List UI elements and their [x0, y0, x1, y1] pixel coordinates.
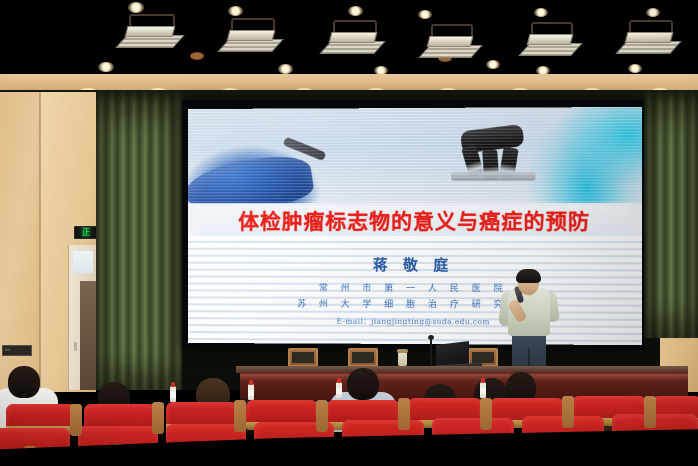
downlight: [278, 64, 293, 74]
stage-light: [126, 20, 174, 52]
seat-armrest: [398, 398, 410, 430]
ceiling: [0, 0, 698, 78]
water-bottle: [170, 386, 176, 402]
downlight: [628, 64, 642, 73]
water-bottle: [480, 382, 486, 398]
stage-curtain-right: [644, 90, 698, 338]
led-screen: 体检肿瘤标志物的意义与癌症的预防 蒋 敬 庭 常 州 市 第 一 人 民 医 院…: [182, 100, 644, 350]
downlight: [486, 60, 500, 69]
seat-armrest: [316, 400, 328, 432]
running-man-icon: 正: [81, 228, 90, 237]
downlight: [228, 6, 243, 16]
slide-speaker-name: 蒋 敬 庭: [188, 254, 642, 276]
slide-affiliation-2: 苏 州 大 学 细 胞 治 疗 研 究 院: [188, 296, 642, 310]
presentation-slide: 体检肿瘤标志物的意义与癌症的预防 蒋 敬 庭 常 州 市 第 一 人 民 医 院…: [188, 107, 642, 345]
auditorium-photo: 正 AV 体检肿瘤标志物的意义与癌症的预防: [0, 0, 698, 466]
stage-chair: [348, 348, 378, 367]
stage-light: [228, 24, 274, 56]
downlight: [98, 62, 114, 72]
water-bottle: [336, 382, 342, 398]
slide-body: 蒋 敬 庭 常 州 市 第 一 人 民 医 院 苏 州 大 学 细 胞 治 疗 …: [188, 236, 642, 345]
downlight: [348, 6, 363, 16]
slide-email: E-mail：jiangjingting@suda.edu.com: [188, 315, 642, 328]
water-bottle: [248, 384, 254, 400]
door-handle: [74, 342, 77, 351]
stage-curtain-left: [96, 90, 182, 390]
stage-light: [330, 26, 376, 58]
slide-title-text: 体检肿瘤标志物的意义与癌症的预防: [238, 206, 590, 236]
downlight: [534, 8, 548, 17]
seat-armrest: [234, 400, 246, 432]
downlight: [128, 2, 144, 13]
stage-light: [528, 28, 572, 60]
wall-panel-plate: AV: [2, 345, 32, 356]
stage-light: [428, 30, 472, 62]
wall-plate-label: AV: [3, 346, 31, 352]
table-microphone: [430, 338, 432, 366]
seat-armrest: [152, 402, 164, 434]
paper-cup: [398, 352, 407, 366]
exit-sign: 正: [74, 226, 98, 239]
seat-armrest: [644, 396, 656, 428]
door-window: [73, 251, 93, 273]
seat-armrest: [562, 396, 574, 428]
audience-head: [347, 368, 379, 400]
slide-affiliation-1: 常 州 市 第 一 人 民 医 院: [188, 281, 642, 295]
stage-light: [626, 26, 672, 58]
downlight: [418, 10, 432, 19]
slide-title-band: 体检肿瘤标志物的意义与癌症的预防: [199, 206, 631, 236]
seat-armrest: [70, 404, 82, 436]
downlight: [646, 8, 660, 17]
seat-armrest: [480, 398, 492, 430]
audience-head: [8, 366, 40, 398]
slide-banner-image: [188, 107, 642, 203]
presenter-hair: [516, 269, 541, 283]
stage-chair: [288, 348, 318, 367]
